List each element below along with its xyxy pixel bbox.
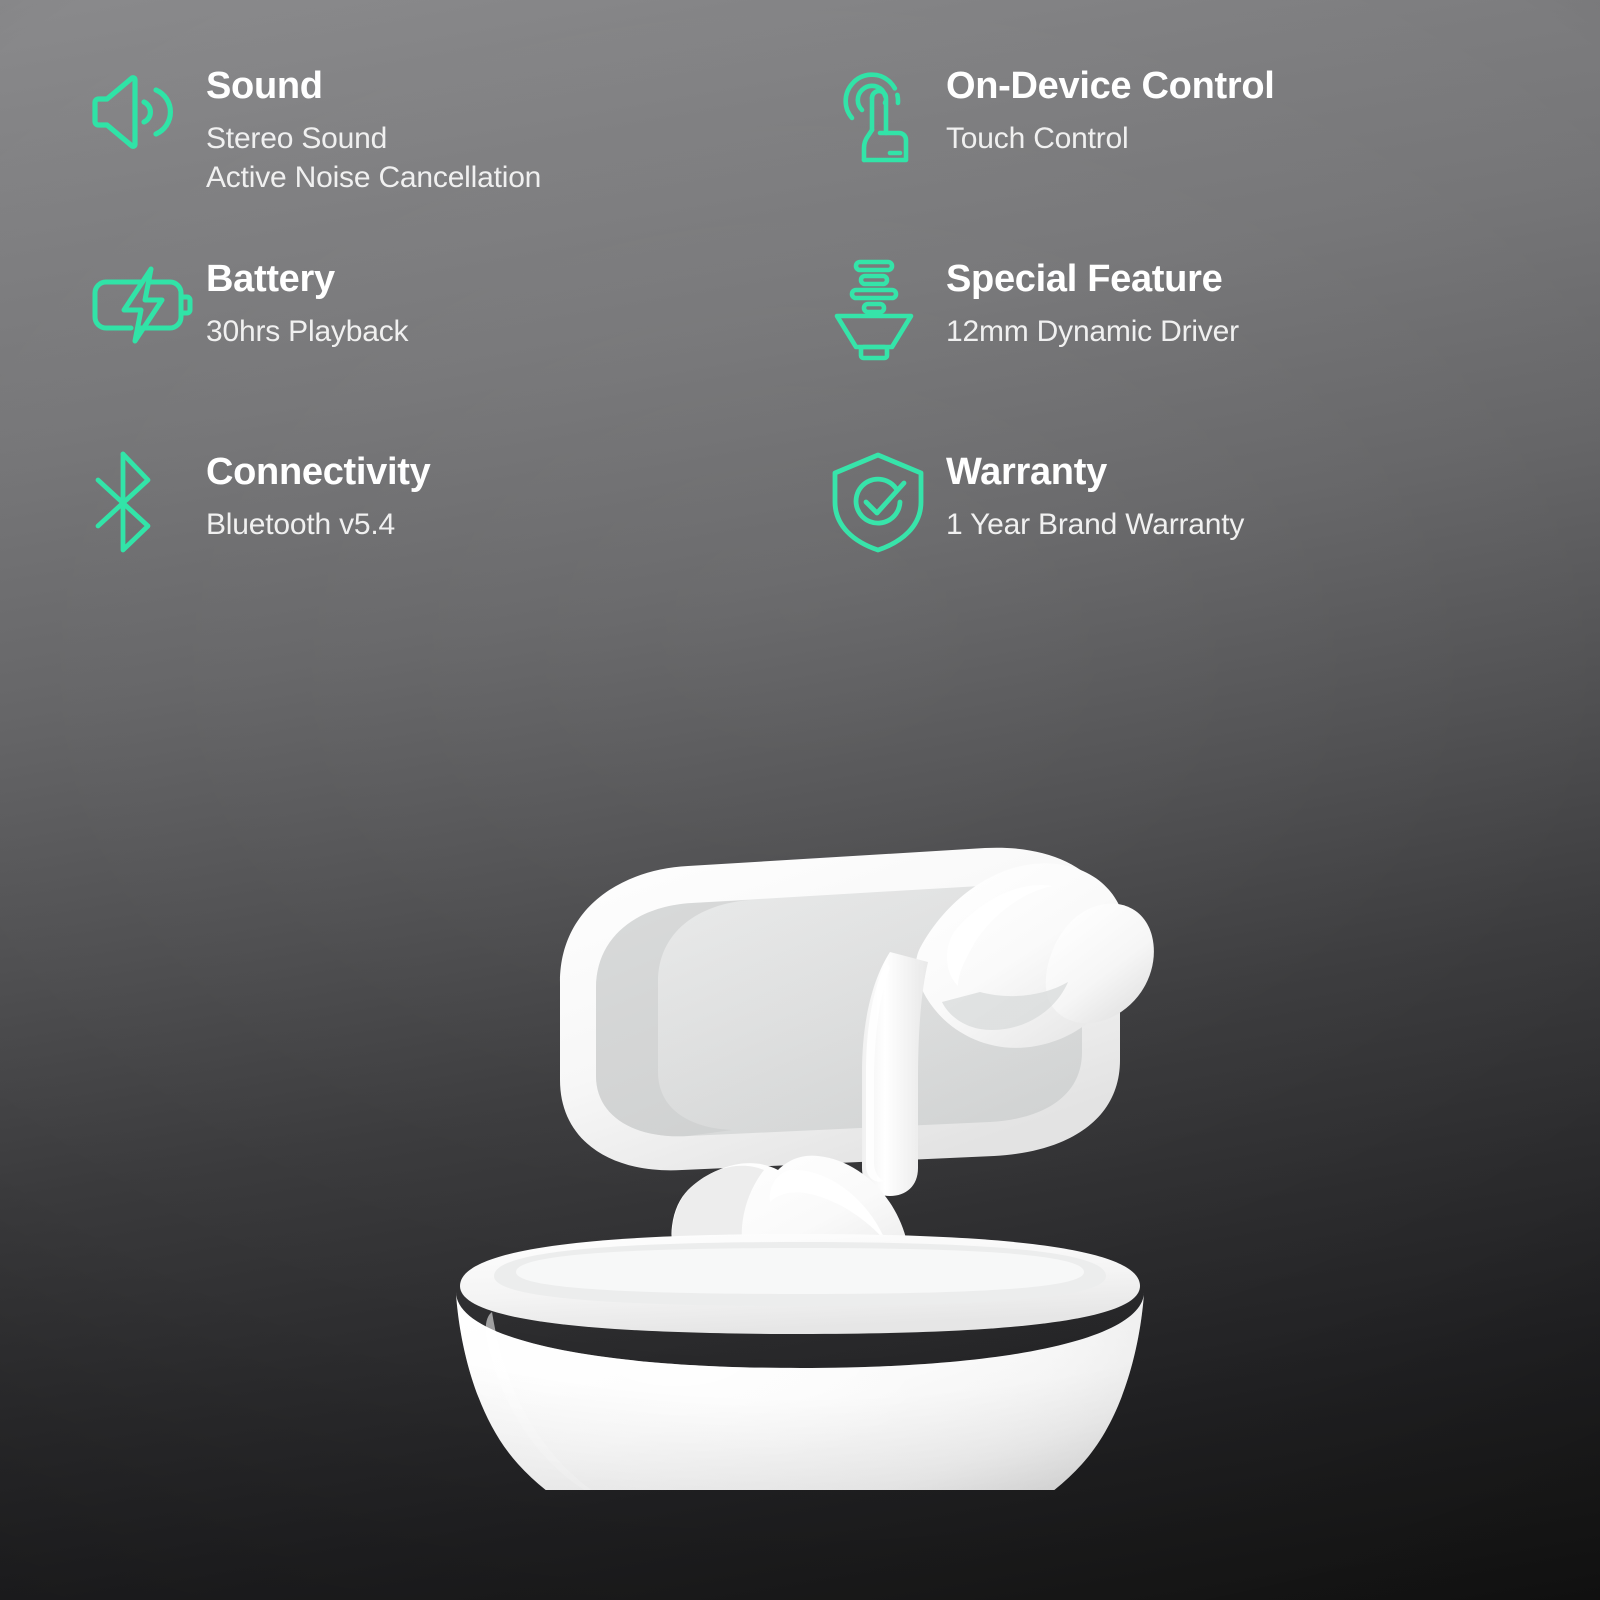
feature-text: Warranty 1 Year Brand Warranty [946,448,1244,544]
charging-case-body [456,1230,1144,1490]
feature-text: On-Device Control Touch Control [946,62,1275,158]
feature-title: Warranty [946,452,1244,492]
feature-title: Special Feature [946,259,1239,299]
feature-text: Connectivity Bluetooth v5.4 [206,448,430,544]
feature-line: 1 Year Brand Warranty [946,505,1244,544]
feature-special-feature: Special Feature 12mm Dynamic Driver [828,255,1568,448]
feature-title: Battery [206,259,408,299]
feature-on-device-control: On-Device Control Touch Control [828,62,1568,255]
battery-charging-icon [88,255,206,353]
speaker-icon [88,62,206,160]
feature-battery: Battery 30hrs Playback [88,255,828,448]
feature-line: Bluetooth v5.4 [206,505,430,544]
feature-title: Sound [206,66,541,106]
product-feature-banner: Sound Stereo Sound Active Noise Cancella… [0,0,1600,1600]
feature-line: Active Noise Cancellation [206,158,541,197]
feature-title: On-Device Control [946,66,1275,106]
feature-grid: Sound Stereo Sound Active Noise Cancella… [0,0,1600,641]
feature-line: Stereo Sound [206,119,541,158]
feature-title: Connectivity [206,452,430,492]
feature-warranty: Warranty 1 Year Brand Warranty [828,448,1568,641]
feature-line: 30hrs Playback [206,312,408,351]
feature-text: Battery 30hrs Playback [206,255,408,351]
feature-text: Special Feature 12mm Dynamic Driver [946,255,1239,351]
touch-control-icon [828,62,946,164]
feature-text: Sound Stereo Sound Active Noise Cancella… [206,62,541,197]
feature-line: 12mm Dynamic Driver [946,312,1239,351]
shield-check-icon [828,448,946,554]
product-image-earbuds-case [420,700,1180,1490]
feature-line: Touch Control [946,119,1275,158]
feature-connectivity: Connectivity Bluetooth v5.4 [88,448,828,641]
dynamic-driver-icon [828,255,946,361]
feature-sound: Sound Stereo Sound Active Noise Cancella… [88,62,828,255]
bluetooth-icon [88,448,206,554]
